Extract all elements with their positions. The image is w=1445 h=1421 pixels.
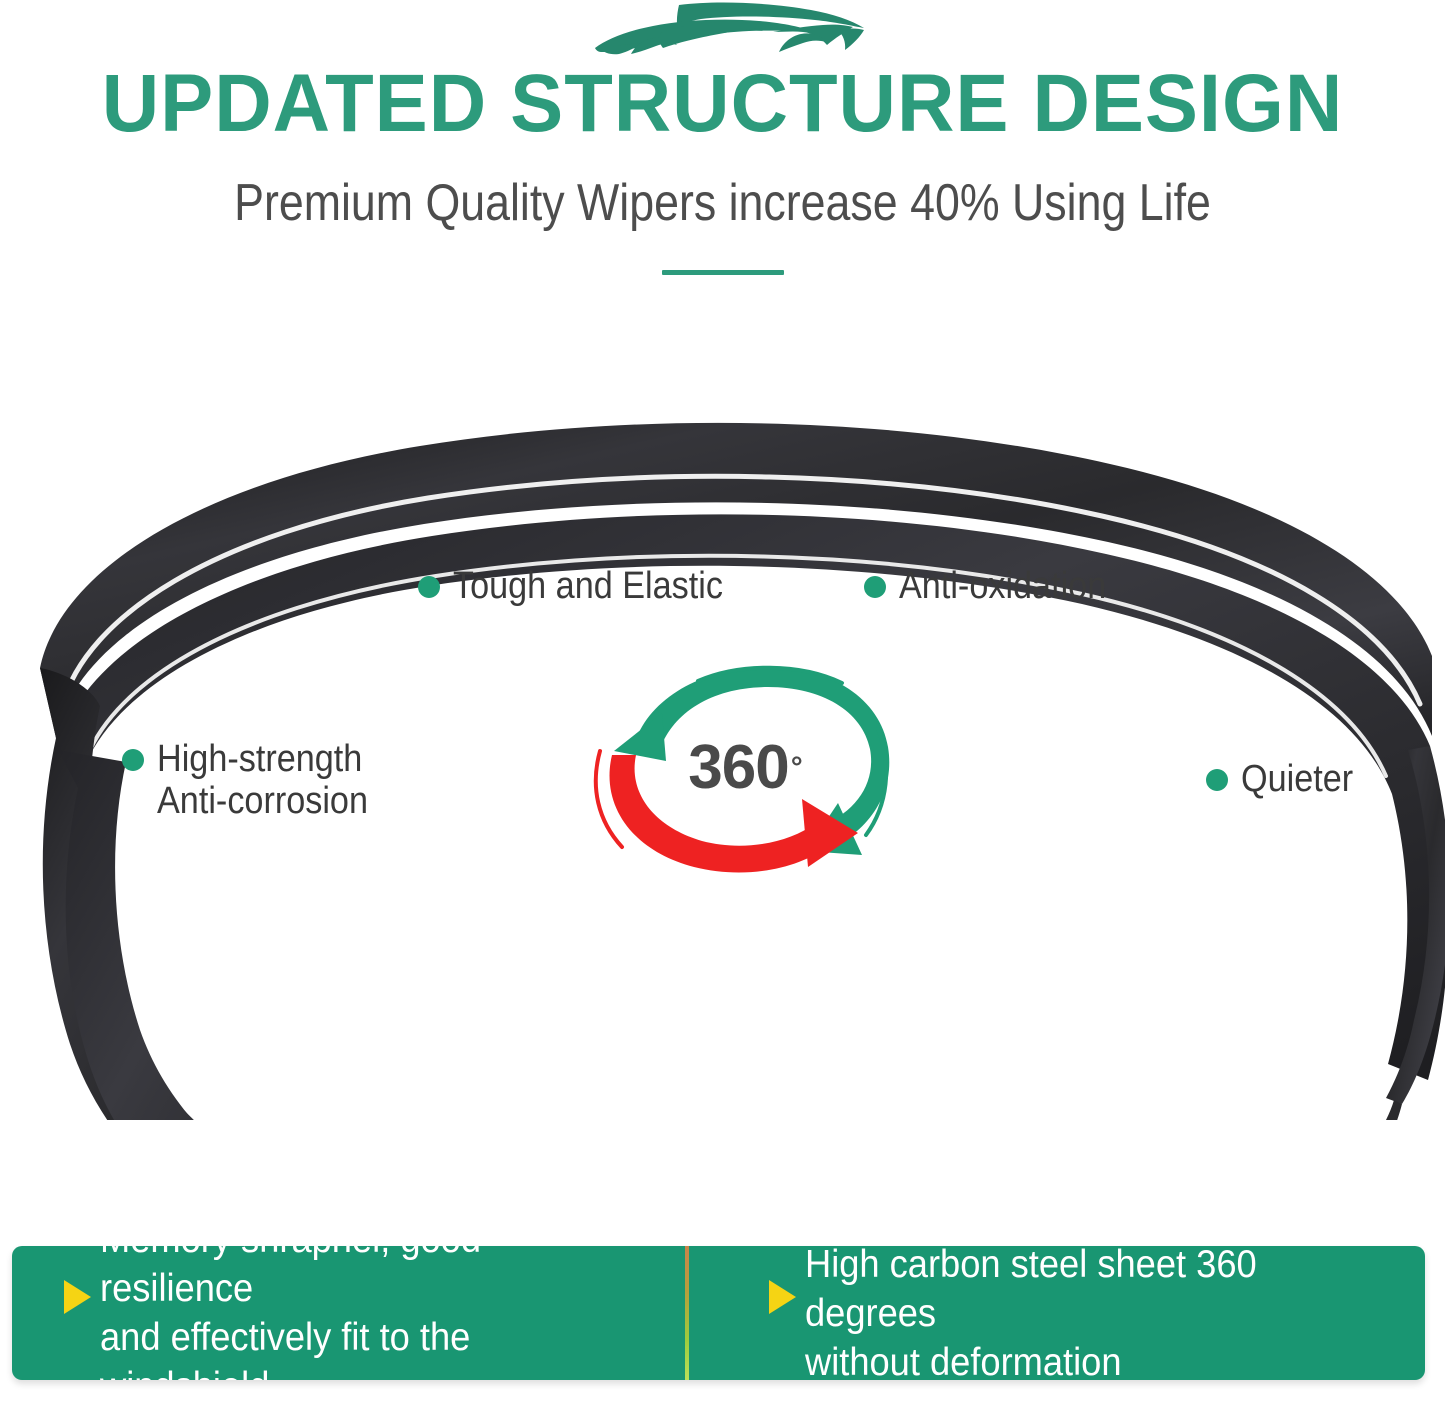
product-tail-tip [1374, 1100, 1402, 1120]
play-triangle-icon [64, 1280, 91, 1314]
feature-callout-high-strength: High-strength Anti-corrosion [122, 738, 391, 822]
page-subtitle: Premium Quality Wipers increase 40% Usin… [101, 172, 1344, 234]
feature-callout-anti-oxidation: Anti-oxidation [864, 565, 1129, 607]
feature-callout-tough-and-elastic: Tough and Elastic [418, 565, 753, 607]
bullet-dot-icon [418, 576, 440, 598]
play-triangle-icon [769, 1280, 796, 1314]
feature-label: Tough and Elastic [453, 565, 723, 607]
feature-label: Quieter [1241, 758, 1353, 800]
product-infographic: UPDATED STRUCTURE DESIGN Premium Quality… [0, 0, 1445, 1421]
feature-label: Anti-oxidation [899, 565, 1106, 607]
banner-text: Memory shrapnel, good resilience and eff… [100, 1246, 644, 1380]
bullet-dot-icon [122, 749, 144, 771]
feature-callout-quieter: Quieter [1206, 758, 1366, 800]
title-underline-rule [662, 270, 784, 275]
bullet-dot-icon [864, 576, 886, 598]
banner-panel-high-carbon-steel: High carbon steel sheet 360 degrees with… [689, 1246, 1425, 1380]
car-swoosh-logo-icon [583, 2, 868, 58]
page-title: UPDATED STRUCTURE DESIGN [22, 58, 1424, 150]
bottom-feature-banner: Memory shrapnel, good resilience and eff… [12, 1246, 1425, 1380]
banner-text: High carbon steel sheet 360 degrees with… [805, 1246, 1382, 1380]
rotation-360-arrows-icon [570, 655, 920, 880]
banner-panel-memory-shrapnel: Memory shrapnel, good resilience and eff… [12, 1246, 685, 1380]
bullet-dot-icon [1206, 769, 1228, 791]
feature-label: High-strength Anti-corrosion [157, 738, 368, 822]
rotation-360-badge: 360° [570, 655, 920, 880]
